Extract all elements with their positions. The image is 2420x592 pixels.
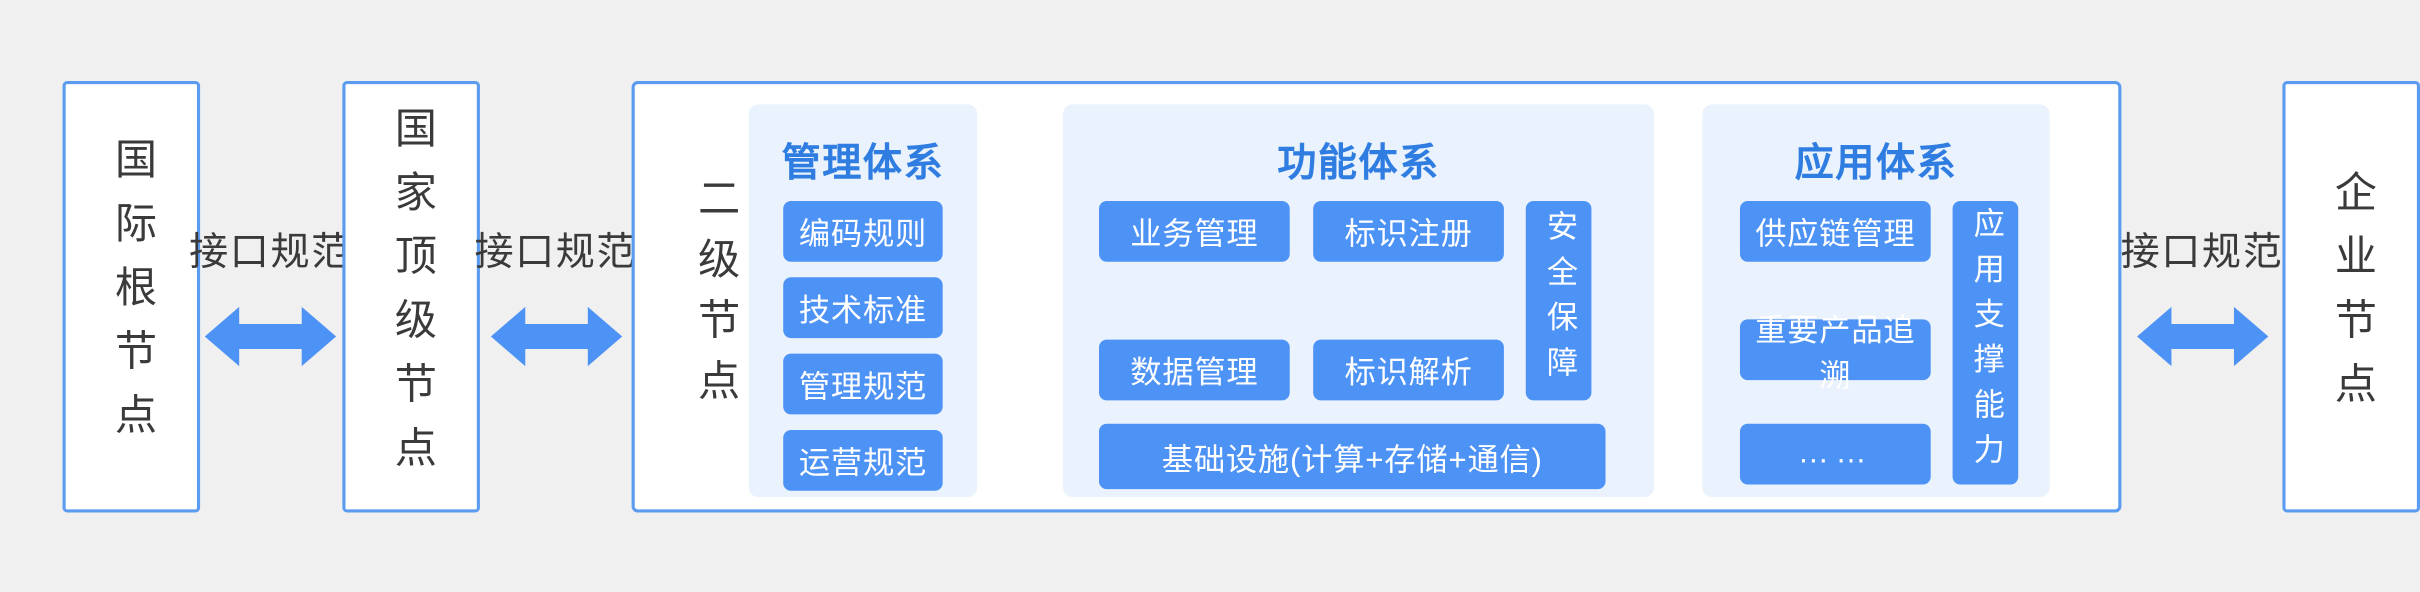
chip-operation-spec[interactable]: 运营规范 (783, 430, 942, 491)
node-secondary-label: 二级节点 (693, 175, 735, 418)
connector-2: 接口规范 (480, 187, 632, 405)
connector-3: 接口规范 (2121, 187, 2282, 405)
chip-coding-rules[interactable]: 编码规则 (783, 201, 942, 262)
node-international-root[interactable]: 国际根节点 (63, 81, 201, 513)
node-international-root-label: 国际根节点 (110, 137, 152, 456)
connector-3-label: 接口规范 (2121, 221, 2284, 277)
chip-business-management[interactable]: 业务管理 (1099, 201, 1290, 262)
panel-management-title: 管理体系 (749, 132, 977, 188)
chip-management-spec[interactable]: 管理规范 (783, 354, 942, 415)
node-enterprise[interactable]: 企业节点 (2282, 81, 2420, 513)
chip-technical-standard[interactable]: 技术标准 (783, 277, 942, 338)
panel-functional-title: 功能体系 (1063, 132, 1654, 188)
chip-security-assurance[interactable]: 安全保障 (1526, 201, 1592, 400)
node-enterprise-label: 企业节点 (2330, 169, 2372, 424)
node-secondary-container[interactable]: 二级节点 管理体系 编码规则 技术标准 管理规范 运营规范 功能体系 业务管理 … (632, 81, 2122, 513)
connector-1: 接口规范 (200, 187, 341, 405)
chip-identifier-registration[interactable]: 标识注册 (1313, 201, 1504, 262)
chip-key-product-traceability[interactable]: 重要产品追溯 (1740, 319, 1931, 380)
double-arrow-icon (2136, 302, 2267, 371)
double-arrow-icon (490, 302, 621, 371)
diagram-canvas: 国际根节点 接口规范 国家顶级节点 接口规范 二级节点 管理体系 编码规则 技术… (0, 0, 2420, 592)
panel-application: 应用体系 供应链管理 重要产品追溯 …… 应用支撑能力 (1702, 104, 2049, 497)
node-national-top[interactable]: 国家顶级节点 (342, 81, 480, 513)
chip-infrastructure[interactable]: 基础设施(计算+存储+通信) (1099, 424, 1606, 489)
chip-application-support-capability[interactable]: 应用支撑能力 (1953, 201, 2019, 485)
panel-management: 管理体系 编码规则 技术标准 管理规范 运营规范 (749, 104, 977, 497)
chip-supply-chain-management[interactable]: 供应链管理 (1740, 201, 1931, 262)
chip-identifier-resolution[interactable]: 标识解析 (1313, 340, 1504, 401)
node-national-top-label: 国家顶级节点 (390, 105, 432, 488)
panel-functional: 功能体系 业务管理 标识注册 安全保障 数据管理 标识解析 基础设施(计算+存储… (1063, 104, 1654, 497)
chip-ellipsis[interactable]: …… (1740, 424, 1931, 485)
chip-data-management[interactable]: 数据管理 (1099, 340, 1290, 401)
panel-application-title: 应用体系 (1702, 132, 2049, 188)
connector-2-label: 接口规范 (474, 221, 637, 277)
double-arrow-icon (205, 302, 336, 371)
connector-1-label: 接口规范 (189, 221, 352, 277)
